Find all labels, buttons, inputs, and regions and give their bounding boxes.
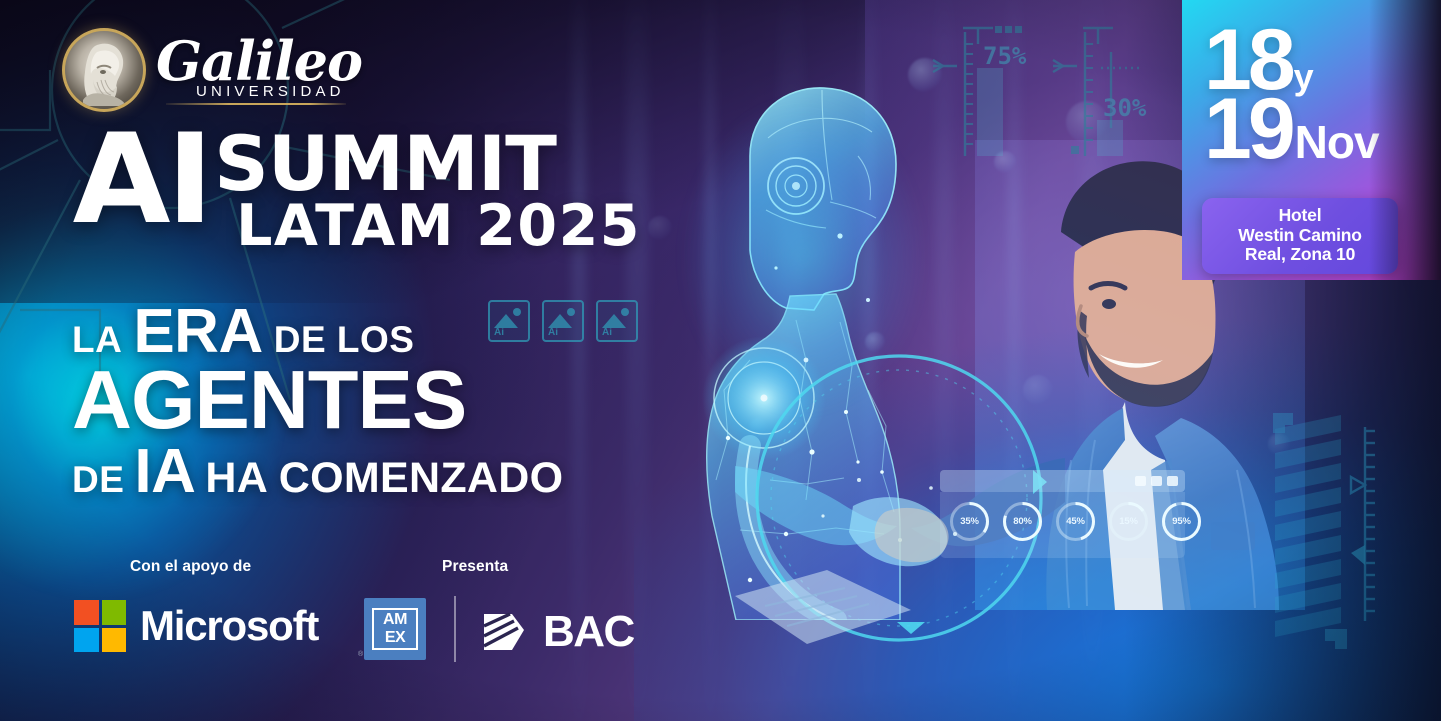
- amex-top-text: AM: [372, 608, 418, 629]
- sponsor-divider: [454, 596, 456, 662]
- microsoft-wordmark: Microsoft: [140, 605, 318, 647]
- title-ai: AI: [73, 130, 210, 232]
- presents-label: Presenta: [442, 558, 508, 576]
- venue-line-1: Hotel: [1208, 206, 1392, 226]
- month: Nov: [1295, 119, 1379, 165]
- microsoft-squares-icon: [74, 600, 126, 652]
- venue-line-2: Westin Camino: [1208, 226, 1392, 246]
- venue-line-3: Real, Zona 10: [1208, 245, 1392, 265]
- registered-mark: ®: [358, 651, 363, 658]
- sponsors-section: Con el apoyo de Presenta Microsoft ® AM …: [74, 558, 694, 666]
- event-banner: 75% 30% Ai Ai Ai: [0, 0, 1441, 721]
- microsoft-logo[interactable]: Microsoft: [74, 600, 318, 652]
- sponsor-logos: Microsoft ® AM EX: [74, 596, 694, 666]
- date-panel: 18 y 19 Nov Hotel Westin Camino Real, Zo…: [1182, 0, 1441, 280]
- title-latam: LATAM 2025: [236, 200, 641, 252]
- tagline-line-3: DE IA HA COMENZADO: [72, 436, 563, 507]
- panel-right-fade: [1369, 0, 1441, 280]
- tagline-de: DE: [72, 459, 124, 501]
- support-label: Con el apoyo de: [130, 558, 251, 576]
- tagline: LA ERA DE LOS AGENTES DE IA HA COMENZADO: [72, 296, 563, 507]
- galileo-bust-icon: [62, 28, 146, 112]
- bac-wordmark: BAC: [543, 610, 634, 654]
- tagline-agentes: AGENTES: [72, 361, 466, 440]
- title-stack: SUMMIT LATAM 2025: [214, 132, 641, 252]
- title-summit: SUMMIT: [214, 132, 641, 196]
- day-2: 19: [1204, 95, 1292, 164]
- logo-underline: [166, 103, 346, 105]
- tagline-ha-comenzado: HA COMENZADO: [205, 454, 563, 503]
- date-line-2: 19 Nov: [1204, 95, 1379, 165]
- logo-script-text: Galileo: [156, 37, 362, 87]
- tagline-line-2: AGENTES: [72, 361, 563, 440]
- bac-arrow-icon: [478, 606, 530, 658]
- event-title: AI SUMMIT LATAM 2025: [74, 130, 641, 252]
- bac-logo[interactable]: BAC: [478, 606, 634, 658]
- event-dates: 18 y 19 Nov: [1204, 26, 1379, 165]
- amex-mark-icon: AM EX: [372, 608, 418, 650]
- logo-wordmark: Galileo UNIVERSIDAD: [156, 35, 362, 104]
- galileo-university-logo[interactable]: Galileo UNIVERSIDAD: [62, 28, 362, 112]
- amex-bottom-text: EX: [372, 629, 418, 650]
- sponsor-labels: Con el apoyo de Presenta: [74, 558, 694, 582]
- date-conjunction: y: [1294, 59, 1314, 95]
- logo-sub-text: UNIVERSIDAD: [196, 83, 362, 100]
- tagline-ia: IA: [134, 436, 195, 507]
- amex-logo[interactable]: ® AM EX: [364, 598, 426, 660]
